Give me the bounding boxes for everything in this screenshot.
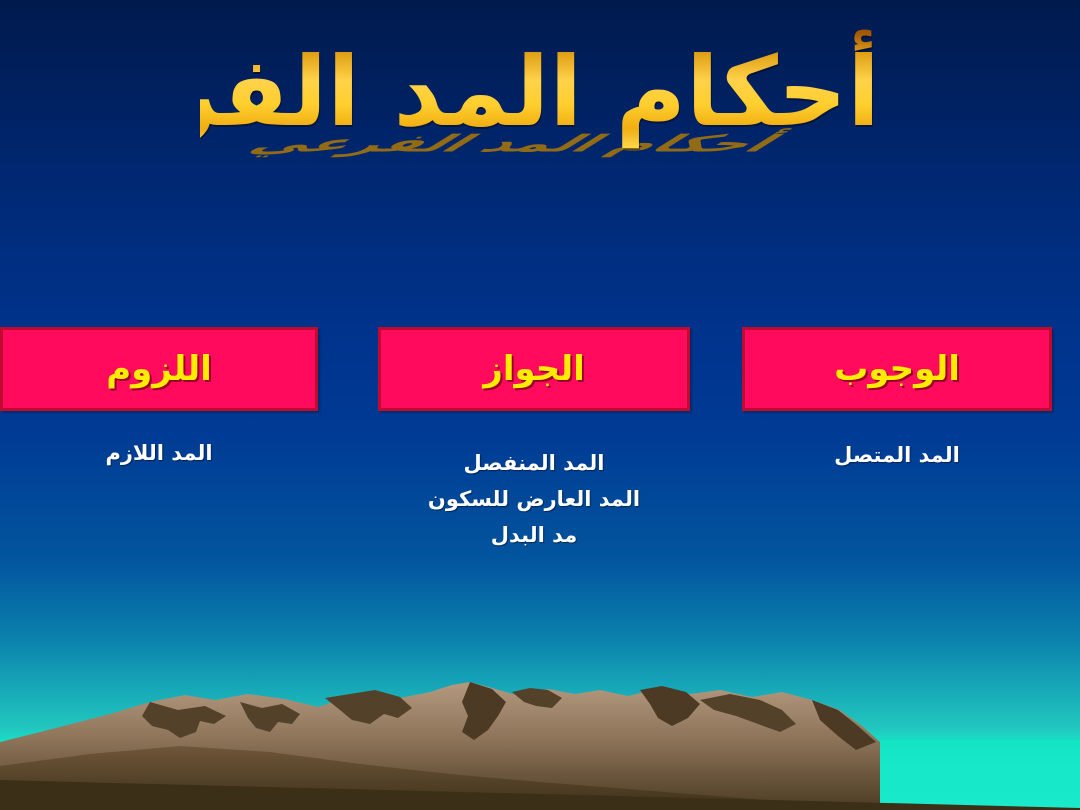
category-column-obligation: الوجوب المد المتصل [742,327,1052,473]
category-box-obligation[interactable]: الوجوب [742,327,1052,411]
category-column-permissibility: الجواز المد المنفصل المد العارض للسكون م… [378,327,690,553]
list-item: المد المتصل [742,437,1052,473]
category-columns: الوجوب المد المتصل الجواز المد المنفصل ا… [0,327,1080,627]
category-column-necessity: اللزوم المد اللازم [0,327,318,471]
category-item-list-obligation: المد المتصل [742,437,1052,473]
category-item-list-necessity: المد اللازم [0,435,318,471]
category-label-necessity: اللزوم [106,352,212,386]
slide-title-block: أحكام المد الفرعي أحكام المد الفرعي [0,18,1080,253]
page-title: أحكام المد الفرعي [200,18,880,167]
category-label-permissibility: الجواز [483,352,584,386]
list-item: المد اللازم [0,435,318,471]
category-item-list-permissibility: المد المنفصل المد العارض للسكون مد البدل [378,445,690,553]
category-label-obligation: الوجوب [834,352,960,386]
list-item: مد البدل [378,517,690,553]
list-item: المد العارض للسكون [378,481,690,517]
presentation-slide: أحكام المد الفرعي أحكام المد الفرعي الوج… [0,0,1080,810]
mountain-range-illustration [0,680,1080,810]
list-item: المد المنفصل [378,445,690,481]
category-box-necessity[interactable]: اللزوم [0,327,318,411]
category-box-permissibility[interactable]: الجواز [378,327,690,411]
